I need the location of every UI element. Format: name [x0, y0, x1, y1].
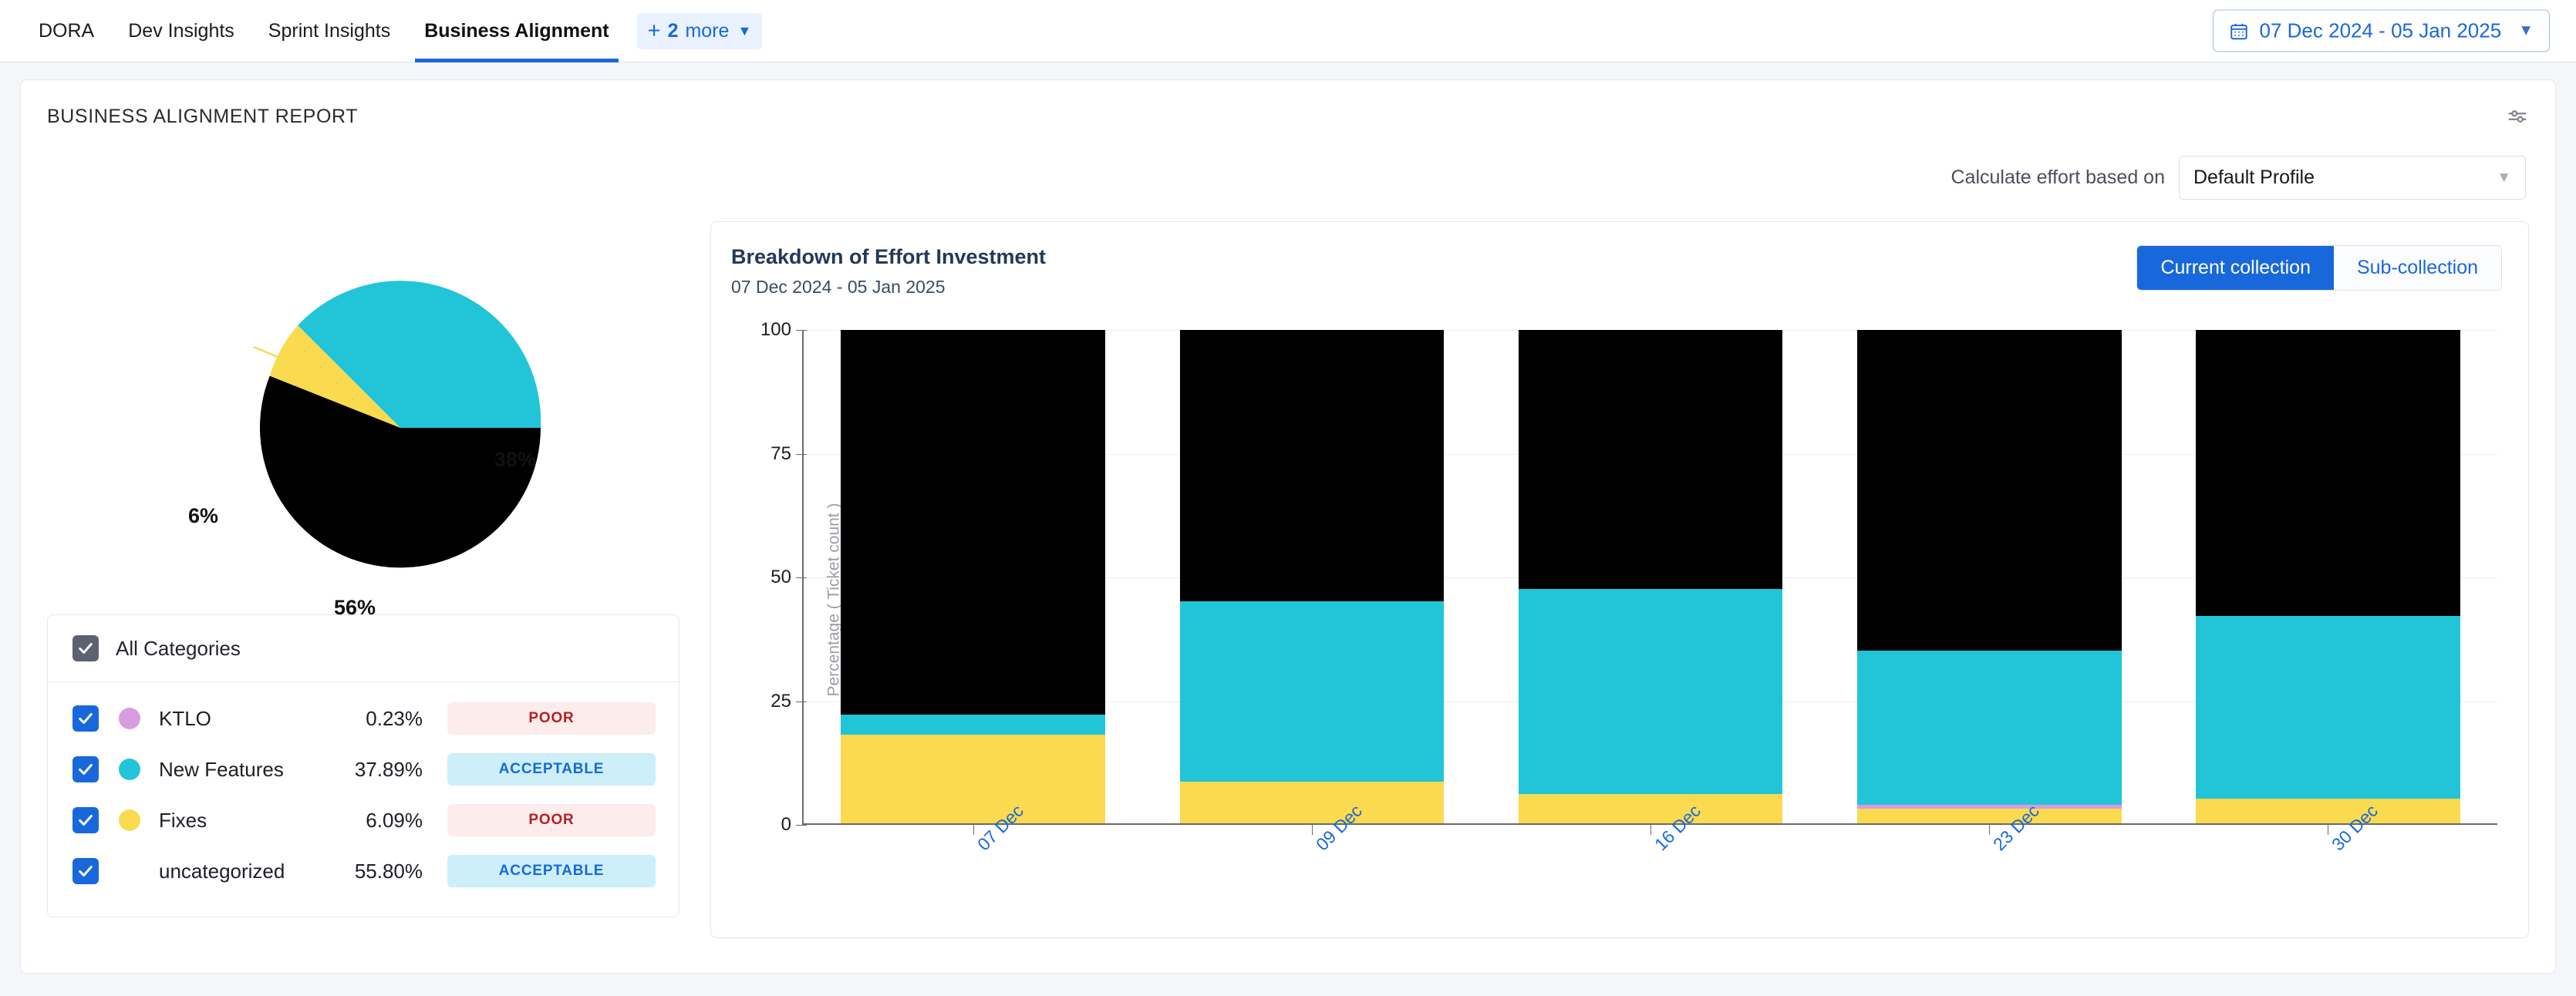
bar-slot: 23 Dec — [1820, 330, 2159, 823]
pie-label-uncategorized: 56% — [334, 596, 376, 620]
all-categories-row[interactable]: All Categories — [48, 615, 679, 682]
more-label: more — [685, 20, 729, 42]
tab-label: DORA — [39, 20, 94, 42]
effort-profile-row: Calculate effort based on Default Profil… — [47, 156, 2529, 200]
x-tick — [2328, 823, 2328, 835]
category-color-dot — [119, 708, 140, 729]
bar-segment-new-features — [1857, 651, 2122, 805]
effort-breakdown-card: Breakdown of Effort Investment 07 Dec 20… — [710, 221, 2529, 938]
tab-list: DORA Dev Insights Sprint Insights Busine… — [22, 0, 626, 62]
category-row-fixes[interactable]: Fixes 6.09% POOR — [48, 795, 679, 846]
category-percent: 55.80% — [327, 860, 443, 883]
effort-pie-chart: 38% 6% 56% — [47, 221, 679, 607]
chevron-down-icon: ▼ — [2518, 22, 2534, 40]
bar-slot: 16 Dec — [1481, 330, 1819, 823]
top-tab-bar: DORA Dev Insights Sprint Insights Busine… — [0, 0, 2576, 62]
bar-segment-uncategorized — [1857, 330, 2122, 651]
business-alignment-report-card: BUSINESS ALIGNMENT REPORT Calculate effo… — [20, 79, 2556, 974]
y-tick-50: 50 — [770, 567, 791, 588]
report-header: BUSINESS ALIGNMENT REPORT — [47, 80, 2529, 128]
category-label: uncategorized — [159, 860, 322, 883]
bar-segment-new-features — [841, 715, 1105, 735]
bar-segment-uncategorized — [1519, 330, 1783, 589]
stacked-bar[interactable] — [1519, 330, 1783, 823]
category-list: KTLO 0.23% POOR New Features 37.89% ACCE… — [48, 682, 679, 917]
date-range-picker[interactable]: 07 Dec 2024 - 05 Jan 2025 ▼ — [2213, 10, 2550, 52]
y-tick-0: 0 — [781, 814, 791, 836]
category-color-dot — [119, 759, 140, 780]
category-color-dot — [119, 860, 140, 882]
calendar-icon — [2229, 21, 2249, 41]
more-tabs-button[interactable]: +2 more ▼ — [637, 13, 763, 49]
stacked-bar[interactable] — [841, 330, 1105, 823]
y-tick-25: 25 — [770, 691, 791, 712]
plus-icon: + — [648, 20, 661, 42]
category-color-dot — [119, 809, 140, 831]
category-checkbox[interactable] — [72, 705, 99, 732]
category-percent: 37.89% — [327, 758, 443, 782]
category-label: New Features — [159, 758, 322, 782]
chart-title: Breakdown of Effort Investment — [731, 245, 1046, 269]
bar-slot: 07 Dec — [804, 330, 1142, 823]
status-badge: ACCEPTABLE — [447, 753, 656, 786]
chart-subtitle: 07 Dec 2024 - 05 Jan 2025 — [731, 277, 1046, 298]
tab-label: Sprint Insights — [268, 20, 390, 42]
y-tick-100: 100 — [760, 319, 791, 341]
tab-label: Business Alignment — [424, 20, 609, 42]
bar-segment-new-features — [1180, 601, 1445, 782]
date-range-text: 07 Dec 2024 - 05 Jan 2025 — [2260, 19, 2502, 43]
status-badge: POOR — [447, 702, 656, 735]
bar-segment-fixes — [1857, 809, 2122, 823]
bar-segment-uncategorized — [2196, 330, 2460, 616]
bar-segment-uncategorized — [1180, 330, 1445, 601]
bar-segment-new-features — [1519, 589, 1783, 794]
pie-label-new-features: 38% — [494, 448, 536, 472]
categories-card: All Categories KTLO 0.23% POOR — [47, 614, 679, 917]
bar-segment-fixes — [2196, 799, 2460, 823]
tab-dora[interactable]: DORA — [22, 0, 111, 62]
tab-dev-insights[interactable]: Dev Insights — [111, 0, 251, 62]
pie-label-fixes: 6% — [188, 504, 218, 528]
x-tick — [1989, 823, 1990, 835]
bar-slot: 09 Dec — [1142, 330, 1481, 823]
stacked-bar[interactable] — [1180, 330, 1445, 823]
effort-profile-select[interactable]: Default Profile ▼ — [2179, 156, 2526, 200]
category-label: Fixes — [159, 809, 322, 833]
tab-sub-collection[interactable]: Sub-collection — [2334, 246, 2501, 290]
all-categories-label: All Categories — [116, 637, 241, 661]
stacked-bar[interactable] — [2196, 330, 2460, 823]
more-count: 2 — [668, 20, 679, 42]
chevron-down-icon: ▼ — [2497, 170, 2511, 187]
left-pane: 38% 6% 56% All Categories — [47, 221, 679, 938]
chart-header: Breakdown of Effort Investment 07 Dec 20… — [731, 245, 2502, 298]
y-tick-75: 75 — [770, 443, 791, 465]
tab-sprint-insights[interactable]: Sprint Insights — [251, 0, 407, 62]
collection-toggle-group: Current collection Sub-collection — [2136, 245, 2502, 291]
page-body: BUSINESS ALIGNMENT REPORT Calculate effo… — [0, 62, 2576, 974]
bar-segment-fixes — [1519, 794, 1783, 823]
bar-segment-uncategorized — [841, 330, 1105, 715]
chart-header-text: Breakdown of Effort Investment 07 Dec 20… — [731, 245, 1046, 298]
all-categories-checkbox[interactable] — [72, 635, 99, 661]
x-axis-line — [802, 823, 2497, 825]
bar-segment-fixes — [1180, 782, 1445, 823]
stacked-bar-chart: Percentage ( Ticket count ) 100 75 50 25… — [731, 330, 2502, 870]
tab-current-collection[interactable]: Current collection — [2137, 246, 2334, 290]
x-tick — [1650, 823, 1651, 835]
pie-svg — [47, 221, 679, 607]
tab-business-alignment[interactable]: Business Alignment — [407, 0, 625, 62]
category-label: KTLO — [159, 707, 322, 731]
category-checkbox[interactable] — [72, 858, 99, 884]
category-row-uncategorized[interactable]: uncategorized 55.80% ACCEPTABLE — [48, 846, 679, 897]
sliders-icon[interactable] — [2506, 105, 2529, 128]
category-checkbox[interactable] — [72, 807, 99, 833]
category-checkbox[interactable] — [72, 756, 99, 782]
effort-profile-value: Default Profile — [2193, 167, 2315, 189]
stacked-bar[interactable] — [1857, 330, 2122, 823]
right-pane: Breakdown of Effort Investment 07 Dec 20… — [710, 221, 2529, 938]
x-tick — [973, 823, 974, 835]
effort-label: Calculate effort based on — [1951, 167, 2165, 189]
category-percent: 6.09% — [327, 809, 443, 833]
bar-segment-new-features — [2196, 616, 2460, 799]
chevron-down-icon: ▼ — [737, 23, 751, 39]
category-row-new-features[interactable]: New Features 37.89% ACCEPTABLE — [48, 744, 679, 795]
status-badge: ACCEPTABLE — [447, 855, 656, 887]
plot-canvas: 100 75 50 25 0 — [802, 330, 2497, 825]
bar-slot: 30 Dec — [2159, 330, 2497, 823]
category-percent: 0.23% — [327, 707, 443, 731]
x-tick — [1312, 823, 1313, 835]
report-body: 38% 6% 56% All Categories — [47, 221, 2529, 938]
tab-label: Dev Insights — [128, 20, 234, 42]
category-row-ktlo[interactable]: KTLO 0.23% POOR — [48, 693, 679, 744]
page-title: BUSINESS ALIGNMENT REPORT — [47, 106, 358, 128]
bar-segment-fixes — [841, 735, 1105, 823]
bar-group: 07 Dec — [804, 330, 2497, 823]
status-badge: POOR — [447, 804, 656, 836]
